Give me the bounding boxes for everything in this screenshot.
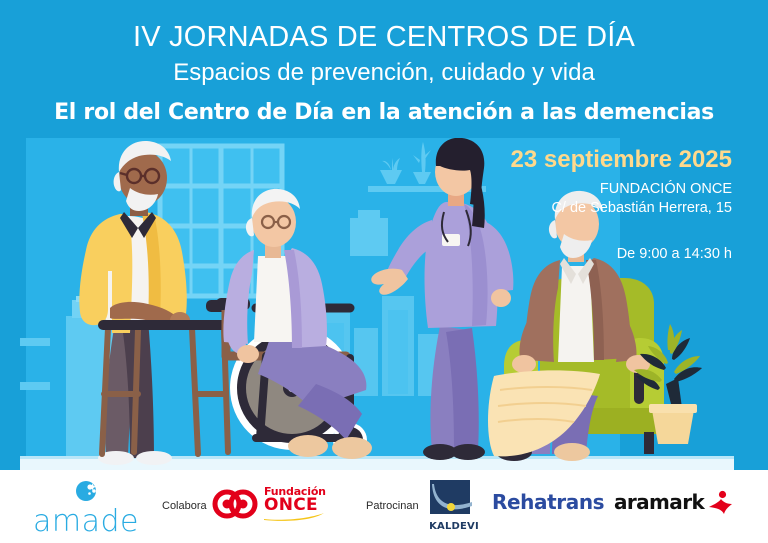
aramark-star-figure-icon	[707, 490, 733, 514]
logo-fundacion-once[interactable]: Fundación ONCE	[212, 486, 334, 524]
label-colabora: Colabora	[162, 500, 207, 512]
headline-block: IV JORNADAS DE CENTROS DE DÍA Espacios d…	[0, 22, 768, 126]
poster-root: IV JORNADAS DE CENTROS DE DÍA Espacios d…	[0, 0, 768, 543]
logo-amade-wordmark: amade	[26, 507, 146, 537]
amade-mark-icon	[71, 480, 101, 502]
poster-title-topic: El rol del Centro de Día en la atención …	[0, 100, 768, 126]
logo-amade[interactable]: amade	[26, 480, 146, 534]
event-address: C/ de Sebastián Herrera, 15	[472, 199, 732, 219]
logo-aramark[interactable]: aramark	[614, 490, 736, 518]
logo-rehatrans[interactable]: Rehatrans	[492, 492, 596, 516]
logo-rehatrans-wordmark: Rehatrans	[492, 492, 596, 512]
sponsor-footer: amade Colabora Fundación ONCE	[0, 470, 768, 543]
label-patrocinan: Patrocinan	[366, 500, 419, 512]
logo-aramark-wordmark: aramark	[614, 492, 704, 512]
kaldevi-mark-icon	[426, 480, 474, 516]
event-venue: FUNDACIÓN ONCE	[472, 180, 732, 200]
poster-title-secondary: Espacios de prevención, cuidado y vida	[0, 59, 768, 88]
event-hours: De 9:00 a 14:30 h	[472, 245, 732, 265]
logo-kaldevi[interactable]: KALDEVI	[426, 480, 482, 532]
logo-kaldevi-wordmark: KALDEVI	[426, 521, 482, 532]
event-date: 23 septiembre 2025	[472, 146, 732, 174]
event-info-block: 23 septiembre 2025 FUNDACIÓN ONCE C/ de …	[472, 146, 732, 264]
walker-handlebar	[98, 320, 230, 330]
poster-title-primary: IV JORNADAS DE CENTROS DE DÍA	[0, 22, 768, 54]
once-rings-icon	[212, 489, 260, 519]
logo-once-line2: ONCE	[264, 497, 326, 514]
